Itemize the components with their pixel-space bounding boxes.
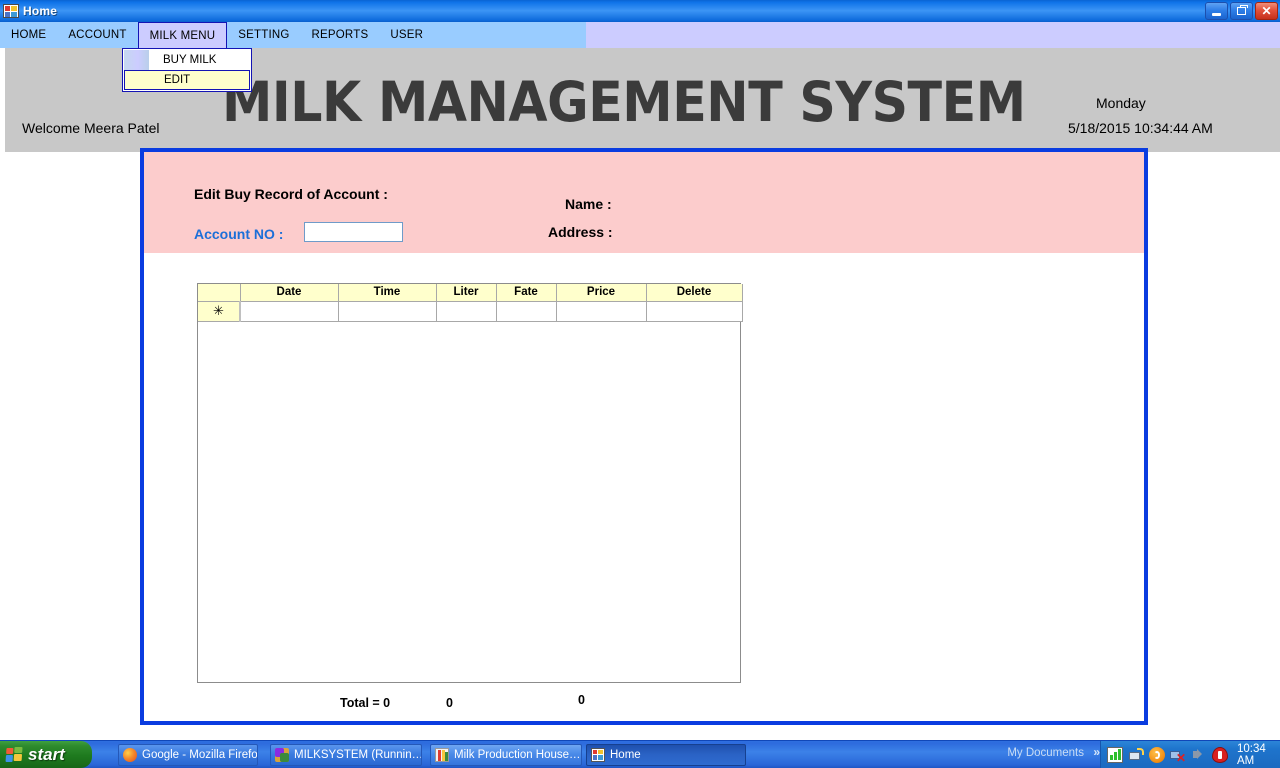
total-label: Total = 0 <box>340 696 390 710</box>
datetime-label: 5/18/2015 10:34:44 AM <box>1068 120 1213 136</box>
network-graph-icon[interactable] <box>1107 747 1123 763</box>
menu-item-label: USER <box>390 29 423 41</box>
grid-new-row-marker[interactable]: ✳ <box>198 301 240 321</box>
menu-bar: HOME ACCOUNT MILK MENU SETTING REPORTS U… <box>0 22 1280 48</box>
form-header-panel: Edit Buy Record of Account : Account NO … <box>144 152 1144 253</box>
dropdown-item-label: EDIT <box>164 74 190 86</box>
dropdown-item-label: BUY MILK <box>163 54 216 66</box>
grid-cell-date[interactable] <box>240 301 338 321</box>
overflow-chevron-icon[interactable]: » <box>1093 745 1100 759</box>
taskbar-item-milk-production-house[interactable]: Milk Production House… <box>430 744 582 766</box>
taskbar-item-label: Home <box>610 749 641 761</box>
clock[interactable]: 10:34 AM <box>1237 743 1280 767</box>
menu-item-milk-menu[interactable]: MILK MENU <box>138 22 228 48</box>
update-icon[interactable] <box>1149 747 1165 763</box>
menu-item-account[interactable]: ACCOUNT <box>57 22 137 48</box>
grid-header-delete[interactable]: Delete <box>646 284 742 301</box>
windows-logo-icon <box>5 747 23 763</box>
grid-header-fate[interactable]: Fate <box>496 284 556 301</box>
grid-header-liter[interactable]: Liter <box>436 284 496 301</box>
welcome-text: Welcome Meera Patel <box>22 120 159 136</box>
name-label: Name : <box>565 196 612 212</box>
menu-item-label: ACCOUNT <box>68 29 126 41</box>
disconnect-icon[interactable]: ✕ <box>1170 747 1186 763</box>
grid-cell-delete[interactable] <box>646 301 742 321</box>
menu-item-label: HOME <box>11 29 46 41</box>
grid-cell-fate[interactable] <box>496 301 556 321</box>
grid-cell-time[interactable] <box>338 301 436 321</box>
milk-menu-dropdown: BUY MILK EDIT <box>122 48 252 92</box>
form-section-title: Edit Buy Record of Account : <box>194 186 388 202</box>
menu-item-user[interactable]: USER <box>379 22 434 48</box>
menu-item-label: REPORTS <box>312 29 369 41</box>
network-icon[interactable] <box>1128 747 1144 763</box>
menu-item-home[interactable]: HOME <box>0 22 57 48</box>
grid-header-price[interactable]: Price <box>556 284 646 301</box>
close-icon: ✕ <box>1261 5 1271 17</box>
taskbar-item-label: Milk Production House… <box>454 749 581 761</box>
grid-header-time[interactable]: Time <box>338 284 436 301</box>
start-label: start <box>28 745 65 765</box>
security-icon[interactable] <box>1212 747 1228 763</box>
firefox-icon <box>123 748 137 762</box>
word-icon <box>435 748 449 762</box>
menu-items: HOME ACCOUNT MILK MENU SETTING REPORTS U… <box>0 22 434 48</box>
visualstudio-icon <box>275 748 289 762</box>
dropdown-item-buy-milk[interactable]: BUY MILK <box>124 50 250 70</box>
account-no-input[interactable] <box>304 222 403 242</box>
close-button[interactable]: ✕ <box>1255 2 1278 20</box>
window-title: Home <box>23 4 57 18</box>
taskbar-item-firefox[interactable]: Google - Mozilla Firefox <box>118 744 258 766</box>
grid-header-row: Date Time Liter Fate Price Delete <box>198 284 742 301</box>
menu-item-label: SETTING <box>238 29 289 41</box>
start-button[interactable]: start <box>0 741 92 768</box>
menu-item-setting[interactable]: SETTING <box>227 22 300 48</box>
grid-cell-price[interactable] <box>556 301 646 321</box>
menu-item-label: MILK MENU <box>150 30 216 42</box>
buy-records-grid[interactable]: Date Time Liter Fate Price Delete ✳ <box>197 283 741 683</box>
edit-buy-record-form: Edit Buy Record of Account : Account NO … <box>140 148 1148 725</box>
volume-icon[interactable] <box>1191 747 1207 763</box>
taskbar-item-milksystem[interactable]: MILKSYSTEM (Runnin… <box>270 744 422 766</box>
total-value-1: 0 <box>446 696 453 710</box>
total-value-2: 0 <box>578 693 585 707</box>
app-background-left-strip <box>0 48 5 740</box>
taskbar: start Google - Mozilla Firefox MILKSYSTE… <box>0 740 1280 768</box>
account-no-label: Account NO : <box>194 226 283 242</box>
app-window-icon <box>3 4 19 18</box>
dropdown-item-edit[interactable]: EDIT <box>124 70 250 90</box>
grid-new-row[interactable]: ✳ <box>198 301 742 321</box>
window-titlebar: Home ✕ <box>0 0 1280 22</box>
taskbar-item-label: MILKSYSTEM (Runnin… <box>294 749 422 761</box>
grid-corner-header[interactable] <box>198 284 240 301</box>
app-window-icon <box>591 748 605 762</box>
screen: Home ✕ HOME ACCOUNT MIL <box>0 0 1280 768</box>
address-label: Address : <box>548 224 613 240</box>
taskbar-item-label: Google - Mozilla Firefox <box>142 749 258 761</box>
window-controls: ✕ <box>1205 2 1278 20</box>
minimize-button[interactable] <box>1205 2 1228 20</box>
quicklaunch-my-documents[interactable]: My Documents <box>1007 747 1084 759</box>
day-label: Monday <box>1096 95 1146 111</box>
grid-table: Date Time Liter Fate Price Delete ✳ <box>198 284 743 322</box>
restore-icon <box>1237 7 1246 15</box>
grid-header-date[interactable]: Date <box>240 284 338 301</box>
system-tray: ✕ 10:34 AM <box>1100 741 1280 768</box>
restore-button[interactable] <box>1230 2 1253 20</box>
page-title: MILK MANAGEMENT SYSTEM <box>222 70 1004 134</box>
menu-item-reports[interactable]: REPORTS <box>301 22 380 48</box>
grid-cell-liter[interactable] <box>436 301 496 321</box>
taskbar-item-home[interactable]: Home <box>586 744 746 766</box>
